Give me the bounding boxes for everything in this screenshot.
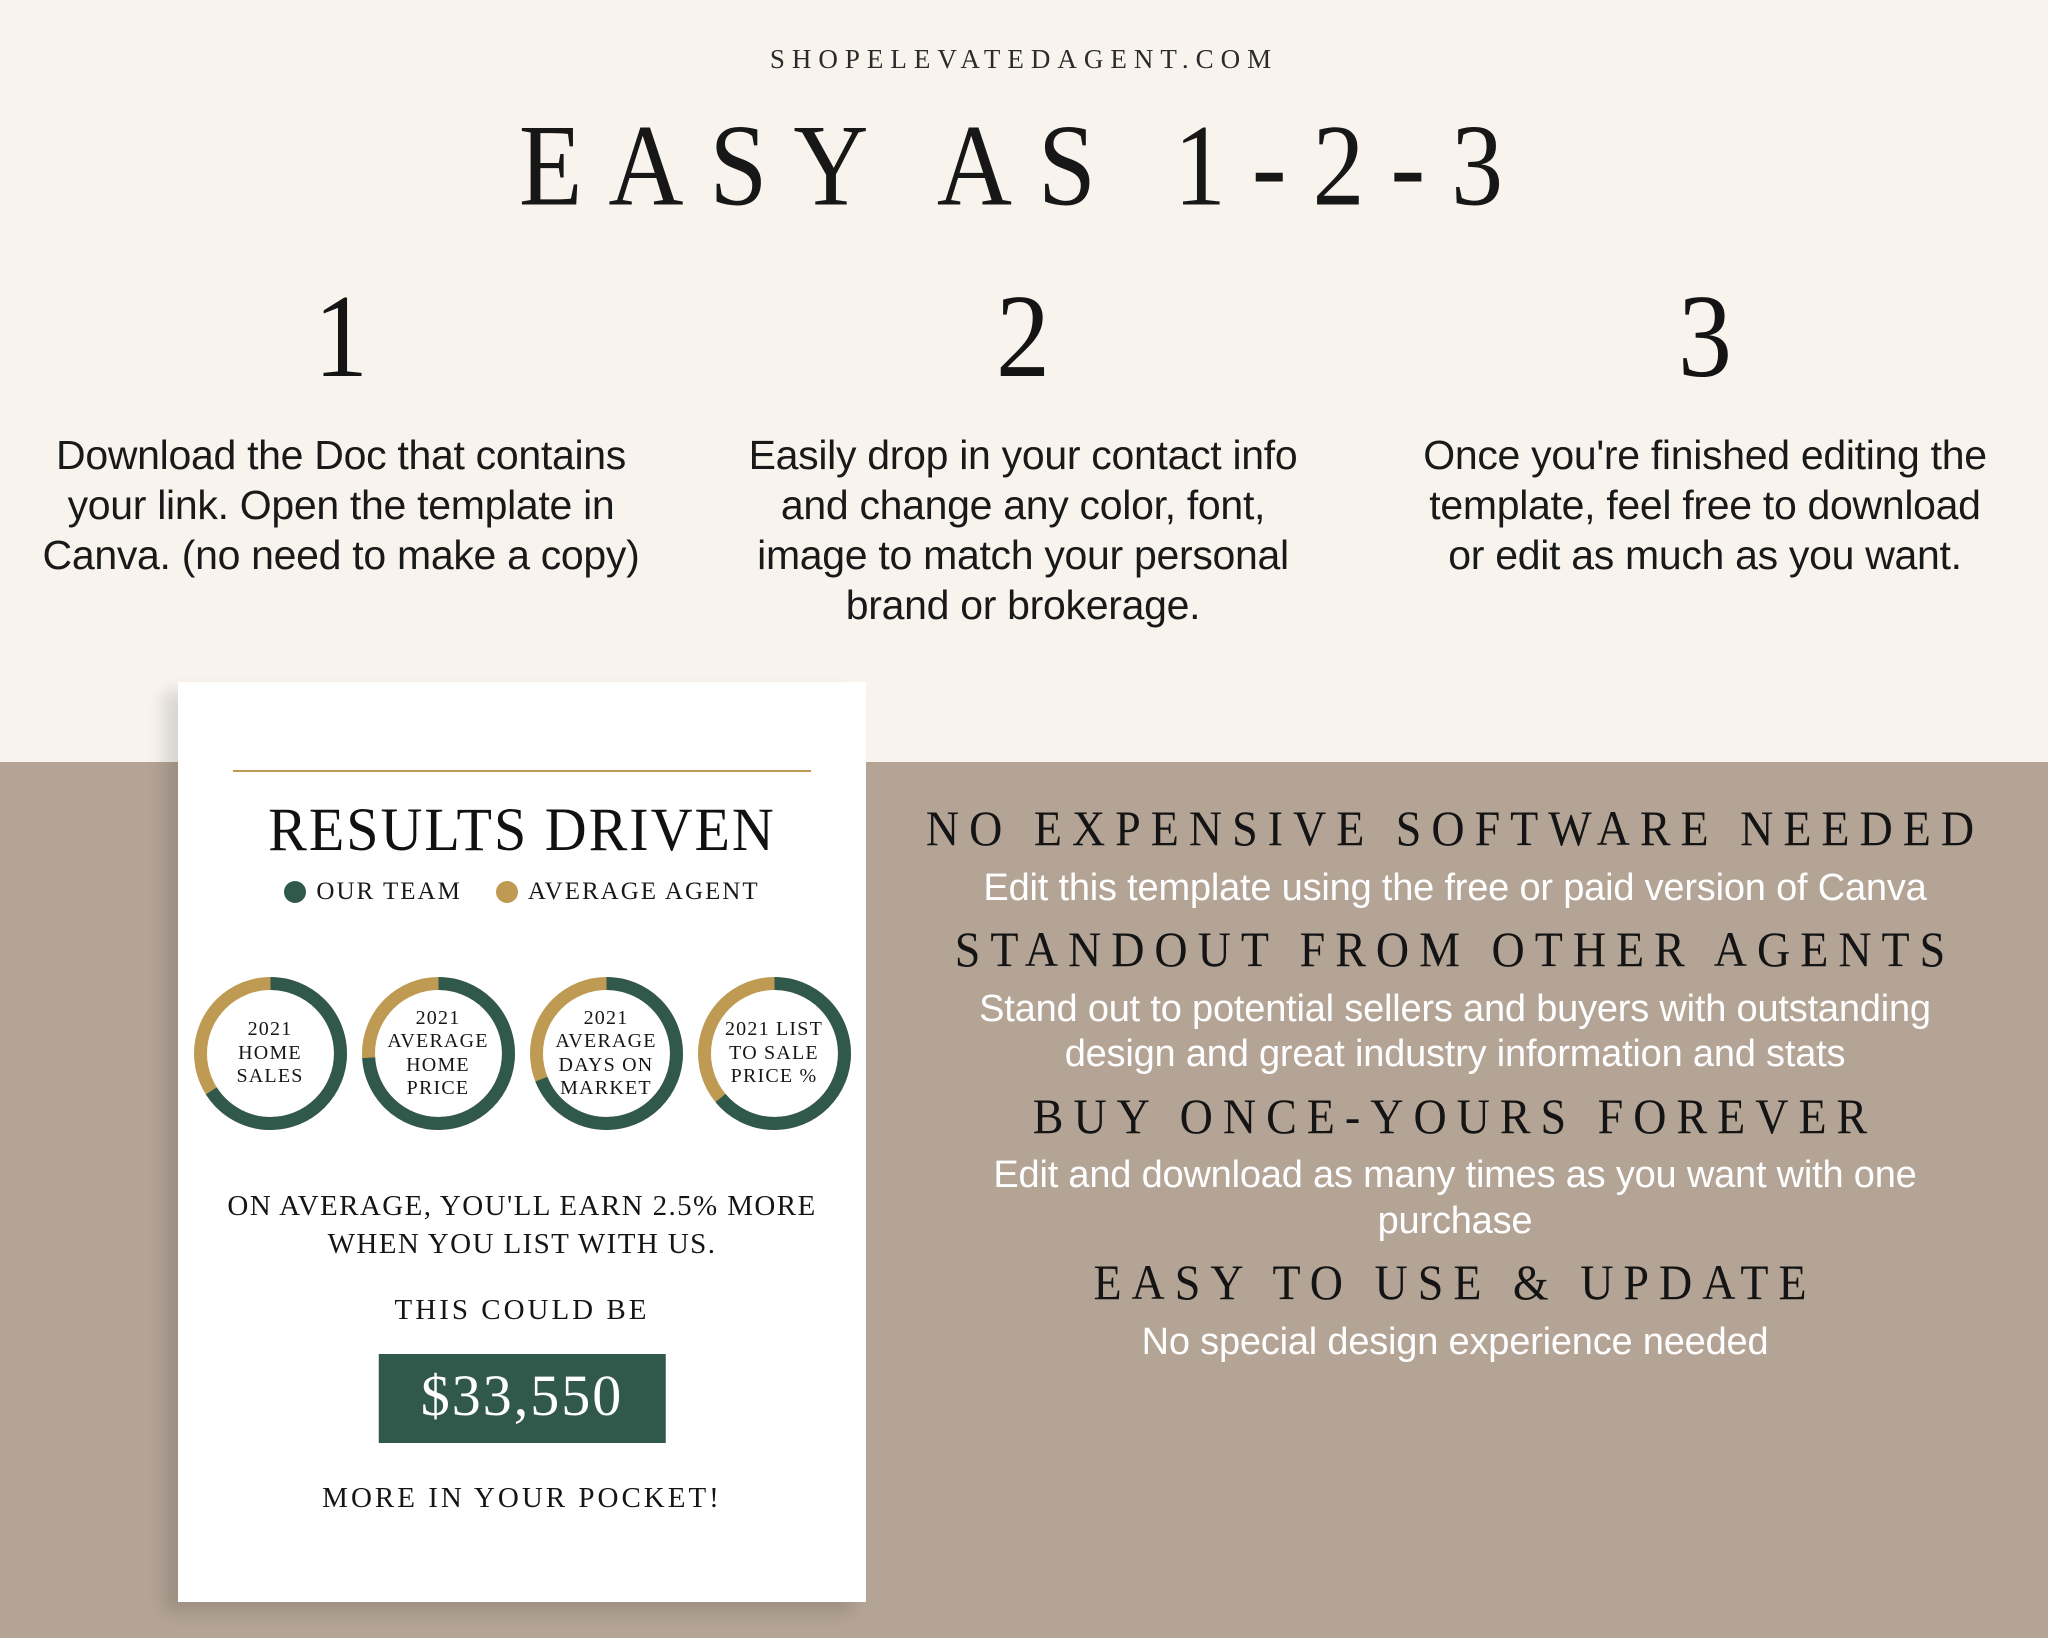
benefits-panel: NO EXPENSIVE SOFTWARE NEEDED Edit this t… <box>890 800 2020 1376</box>
benefit-4-text: No special design experience needed <box>890 1320 2020 1366</box>
legend-label-average-agent: AVERAGE AGENT <box>528 878 760 906</box>
could-be-label: THIS COULD BE <box>178 1294 866 1327</box>
legend-label-our-team: OUR TEAM <box>316 878 461 906</box>
stat-line: ON AVERAGE, YOU'LL EARN 2.5% MORE WHEN Y… <box>178 1188 866 1263</box>
legend-item-average-agent: AVERAGE AGENT <box>496 878 760 906</box>
donut-chart-2: 2021AVERAGEHOME PRICE <box>357 972 520 1135</box>
benefit-2-text: Stand out to potential sellers and buyer… <box>890 987 2020 1078</box>
donut-label-line: TO SALE <box>729 1042 819 1065</box>
chart-legend: OUR TEAM AVERAGE AGENT <box>178 878 866 906</box>
donut-chart-3: 2021AVERAGEDAYS ONMARKET <box>525 972 688 1135</box>
donut-label-line: DAYS ON <box>559 1054 654 1077</box>
amount-badge: $33,550 <box>379 1354 666 1443</box>
benefit-2-title: STANDOUT FROM OTHER AGENTS <box>890 919 2020 981</box>
donut-label-line: AVERAGE <box>555 1030 656 1053</box>
benefit-1: NO EXPENSIVE SOFTWARE NEEDED Edit this t… <box>890 800 2020 911</box>
legend-dot-gold-icon <box>496 881 518 903</box>
site-url: SHOPELEVATEDAGENT.COM <box>0 44 2048 75</box>
benefit-3-title: BUY ONCE-YOURS FOREVER <box>890 1085 2020 1147</box>
donut-label-1: 2021HOMESALES <box>189 972 352 1135</box>
legend-dot-green-icon <box>284 881 306 903</box>
donut-label-line: 2021 LIST <box>725 1018 823 1041</box>
donut-label-3: 2021AVERAGEDAYS ONMARKET <box>525 972 688 1135</box>
step-2-number: 2 <box>682 278 1364 397</box>
steps-row: 1 Download the Doc that contains your li… <box>0 278 2048 630</box>
card-divider-rule <box>233 770 811 772</box>
donut-label-line: MARKET <box>560 1077 652 1100</box>
donut-label-line: HOME PRICE <box>373 1054 504 1101</box>
step-3-number: 3 <box>1364 278 2046 397</box>
page-title: EASY AS 1-2-3 <box>0 105 2048 227</box>
card-title: RESULTS DRIVEN <box>178 794 866 865</box>
donut-label-4: 2021 LISTTO SALEPRICE % <box>693 972 856 1135</box>
donut-label-line: SALES <box>236 1065 303 1088</box>
results-driven-card: RESULTS DRIVEN OUR TEAM AVERAGE AGENT 20… <box>178 682 866 1602</box>
amount-value: $33,550 <box>421 1363 624 1428</box>
benefit-1-title: NO EXPENSIVE SOFTWARE NEEDED <box>890 798 2020 860</box>
donut-chart-1: 2021HOMESALES <box>189 972 352 1135</box>
benefit-3: BUY ONCE-YOURS FOREVER Edit and download… <box>890 1088 2020 1245</box>
donut-label-line: AVERAGE <box>387 1030 488 1053</box>
donut-label-line: 2021 <box>584 1007 629 1030</box>
step-1-number: 1 <box>0 278 682 397</box>
donut-label-line: HOME <box>238 1042 302 1065</box>
pocket-label: MORE IN YOUR POCKET! <box>178 1482 866 1515</box>
step-1-text: Download the Doc that contains your link… <box>0 430 682 580</box>
step-1: 1 Download the Doc that contains your li… <box>0 278 682 580</box>
benefit-2: STANDOUT FROM OTHER AGENTS Stand out to … <box>890 921 2020 1078</box>
step-2-text: Easily drop in your contact info and cha… <box>682 430 1364 630</box>
donut-chart-4: 2021 LISTTO SALEPRICE % <box>693 972 856 1135</box>
legend-item-our-team: OUR TEAM <box>284 878 461 906</box>
benefit-4-title: EASY TO USE & UPDATE <box>890 1252 2020 1314</box>
donut-label-line: 2021 <box>416 1007 461 1030</box>
benefit-4: EASY TO USE & UPDATE No special design e… <box>890 1254 2020 1365</box>
donut-chart-row: 2021HOMESALES2021AVERAGEHOME PRICE2021AV… <box>184 972 860 1135</box>
step-3: 3 Once you're finished editing the templ… <box>1364 278 2046 580</box>
donut-label-line: 2021 <box>248 1018 293 1041</box>
step-3-text: Once you're finished editing the templat… <box>1364 430 2046 580</box>
step-2: 2 Easily drop in your contact info and c… <box>682 278 1364 630</box>
benefit-3-text: Edit and download as many times as you w… <box>890 1153 2020 1244</box>
donut-label-2: 2021AVERAGEHOME PRICE <box>357 972 520 1135</box>
donut-label-line: PRICE % <box>731 1065 818 1088</box>
benefit-1-text: Edit this template using the free or pai… <box>890 866 2020 912</box>
